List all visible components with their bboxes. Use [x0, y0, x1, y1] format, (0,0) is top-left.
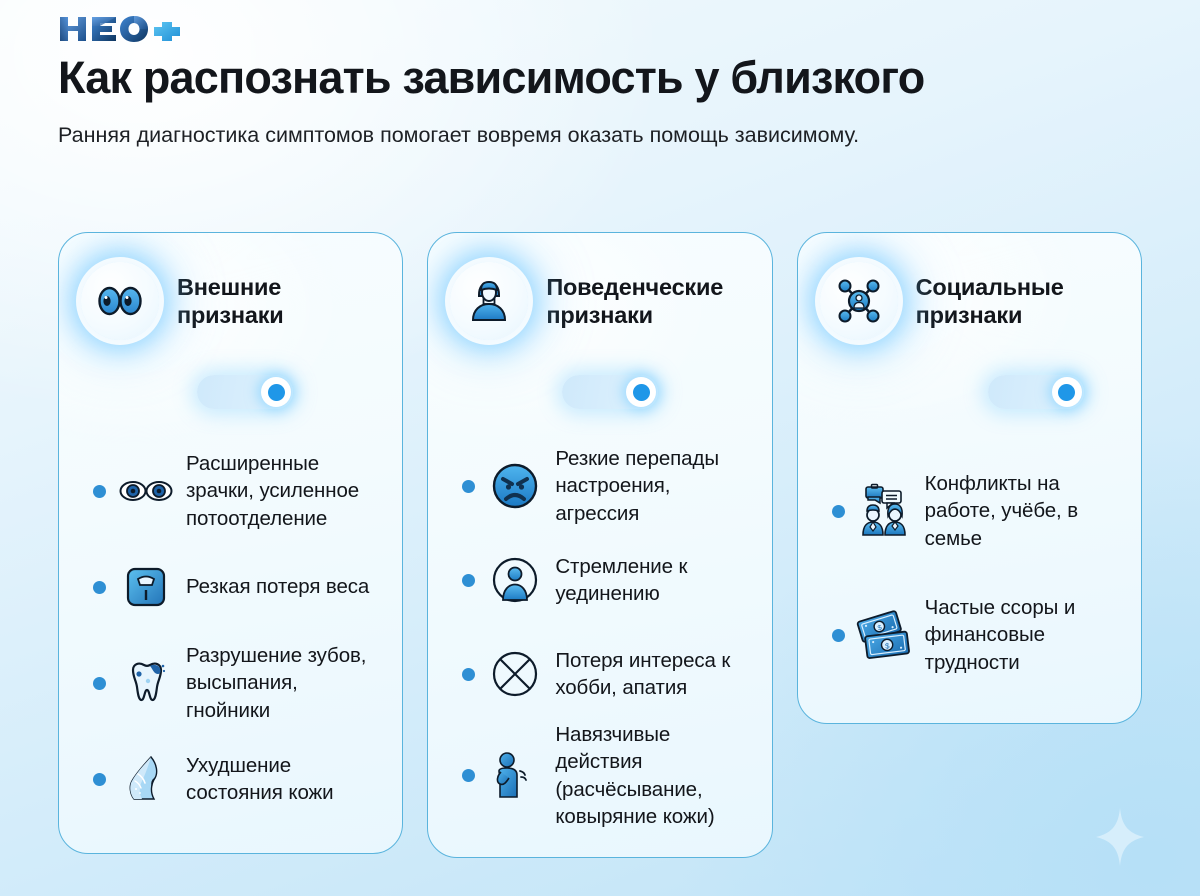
card-behavioral-signs: Поведенческие признаки — [427, 232, 772, 858]
card-header: Социальные признаки — [820, 259, 1119, 343]
symptom-list: Расширенные зрачки, усиленное потоотделе… — [81, 443, 380, 827]
bullet-dot — [93, 677, 106, 690]
toggle-behavioral-signs[interactable] — [562, 375, 658, 409]
sparkle-star-icon — [1096, 808, 1144, 866]
card-title-line2: признаки — [546, 301, 723, 329]
symptom-list: Резкие перепады настроения, агрессия — [450, 439, 749, 831]
bullet-dot — [93, 581, 106, 594]
infographic-page: Как распознать зависимость у близкого Ра… — [0, 0, 1200, 896]
neo-plus-logo-icon — [58, 14, 186, 44]
bullet-dot — [462, 574, 475, 587]
list-item-text: Навязчивые действия (расчёсывание, ковыр… — [555, 721, 749, 831]
bullet-dot — [462, 769, 475, 782]
toggle-knob — [1052, 377, 1082, 407]
crossed-circle-icon — [486, 645, 544, 703]
list-item-text: Резкая потеря веса — [186, 573, 369, 600]
page-subtitle: Ранняя диагностика симптомов помогает во… — [58, 119, 938, 152]
toggle-row — [820, 375, 1119, 409]
card-social-signs: Социальные признаки — [797, 232, 1142, 724]
list-item: Разрушение зубов, высыпания, гнойники — [81, 635, 380, 731]
card-title-line2: признаки — [916, 301, 1064, 329]
bullet-dot — [462, 480, 475, 493]
toggle-knob — [261, 377, 291, 407]
symptom-cards-container: Внешние признаки — [58, 232, 1142, 858]
list-item: Ухудшение состояния кожи — [81, 731, 380, 827]
toggle-external-signs[interactable] — [197, 375, 293, 409]
bullet-dot — [93, 485, 106, 498]
card-header: Поведенческие признаки — [450, 259, 749, 343]
badge-social — [820, 262, 898, 340]
eyes-icon — [97, 284, 143, 318]
list-item-text: Частые ссоры и финансовые трудности — [925, 594, 1119, 676]
list-item-text: Резкие перепады настроения, агрессия — [555, 445, 749, 527]
list-item: $ $ — [820, 573, 1119, 697]
brand-logo — [58, 0, 1142, 44]
list-item-text: Потеря интереса к хобби, апатия — [555, 647, 749, 702]
bullet-dot — [93, 773, 106, 786]
toggle-social-signs[interactable] — [988, 375, 1084, 409]
card-external-signs: Внешние признаки — [58, 232, 403, 854]
list-item: Расширенные зрачки, усиленное потоотделе… — [81, 443, 380, 539]
person-avatar-icon — [468, 279, 510, 323]
badge-person — [450, 262, 528, 340]
list-item: Стремление к уединению — [450, 533, 749, 627]
list-item: Резкая потеря веса — [81, 539, 380, 635]
person-circle-icon — [486, 551, 544, 609]
card-title: Поведенческие признаки — [546, 273, 723, 330]
card-title-line1: Внешние — [177, 273, 284, 301]
list-item: Конфликты на работе, учёбе, в семье — [820, 449, 1119, 573]
card-title-line2: признаки — [177, 301, 284, 329]
money-banknotes-icon: $ $ — [856, 606, 914, 664]
bullet-dot — [832, 629, 845, 642]
dilated-pupils-icon — [117, 462, 175, 520]
toggle-knob — [626, 377, 656, 407]
list-item: Резкие перепады настроения, агрессия — [450, 439, 749, 533]
card-title: Внешние признаки — [177, 273, 284, 330]
toggle-row — [81, 375, 380, 409]
scratching-person-icon — [486, 747, 544, 805]
bullet-dot — [462, 668, 475, 681]
card-title-line1: Социальные — [916, 273, 1064, 301]
symptom-list: Конфликты на работе, учёбе, в семье — [820, 449, 1119, 697]
toggle-row — [450, 375, 749, 409]
list-item-text: Стремление к уединению — [555, 553, 749, 608]
face-skin-icon — [117, 750, 175, 808]
social-network-icon — [836, 278, 882, 324]
list-item: Потеря интереса к хобби, апатия — [450, 627, 749, 721]
list-item-text: Конфликты на работе, учёбе, в семье — [925, 470, 1119, 552]
list-item-text: Ухудшение состояния кожи — [186, 752, 380, 807]
list-item: Навязчивые действия (расчёсывание, ковыр… — [450, 721, 749, 831]
page-title: Как распознать зависимость у близкого — [58, 54, 1142, 102]
card-title: Социальные признаки — [916, 273, 1064, 330]
weight-scale-icon — [117, 558, 175, 616]
people-conflict-icon — [856, 482, 914, 540]
card-header: Внешние признаки — [81, 259, 380, 343]
angry-face-icon — [486, 457, 544, 515]
list-item-text: Разрушение зубов, высыпания, гнойники — [186, 642, 380, 724]
tooth-decay-icon — [117, 654, 175, 712]
card-title-line1: Поведенческие — [546, 273, 723, 301]
badge-eyes — [81, 262, 159, 340]
list-item-text: Расширенные зрачки, усиленное потоотделе… — [186, 450, 380, 532]
bullet-dot — [832, 505, 845, 518]
